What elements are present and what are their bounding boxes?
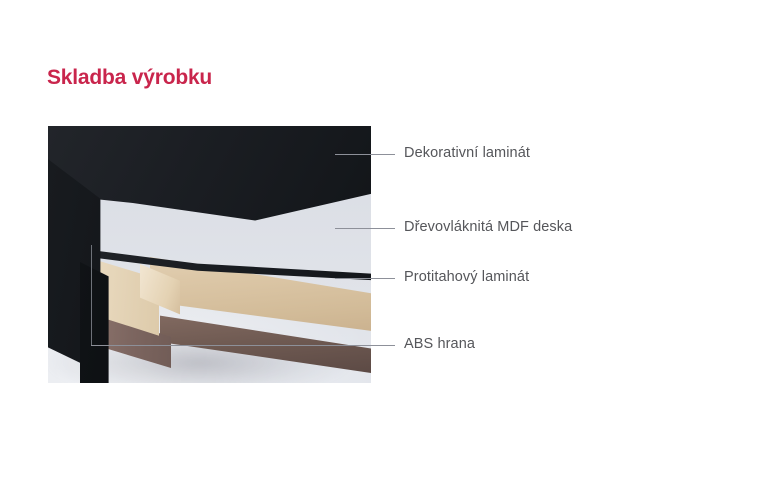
product-composition-page: Skladba výrobku Dekorativní laminát Dřev… <box>0 0 768 480</box>
leader-line-backing-laminate <box>335 278 395 279</box>
callout-label-mdf-board: Dřevovláknitá MDF deska <box>404 219 572 235</box>
leader-line-abs-edge-vertical <box>91 245 92 346</box>
leader-line-mdf-board <box>335 228 395 229</box>
callout-label-abs-edge: ABS hrana <box>404 336 475 352</box>
callout-label-decorative-laminate: Dekorativní laminát <box>404 145 530 161</box>
leader-line-abs-edge-horizontal <box>91 345 395 346</box>
leader-line-decorative-laminate <box>335 154 395 155</box>
callout-label-backing-laminate: Protitahový laminát <box>404 269 529 285</box>
page-title: Skladba výrobku <box>47 66 212 90</box>
